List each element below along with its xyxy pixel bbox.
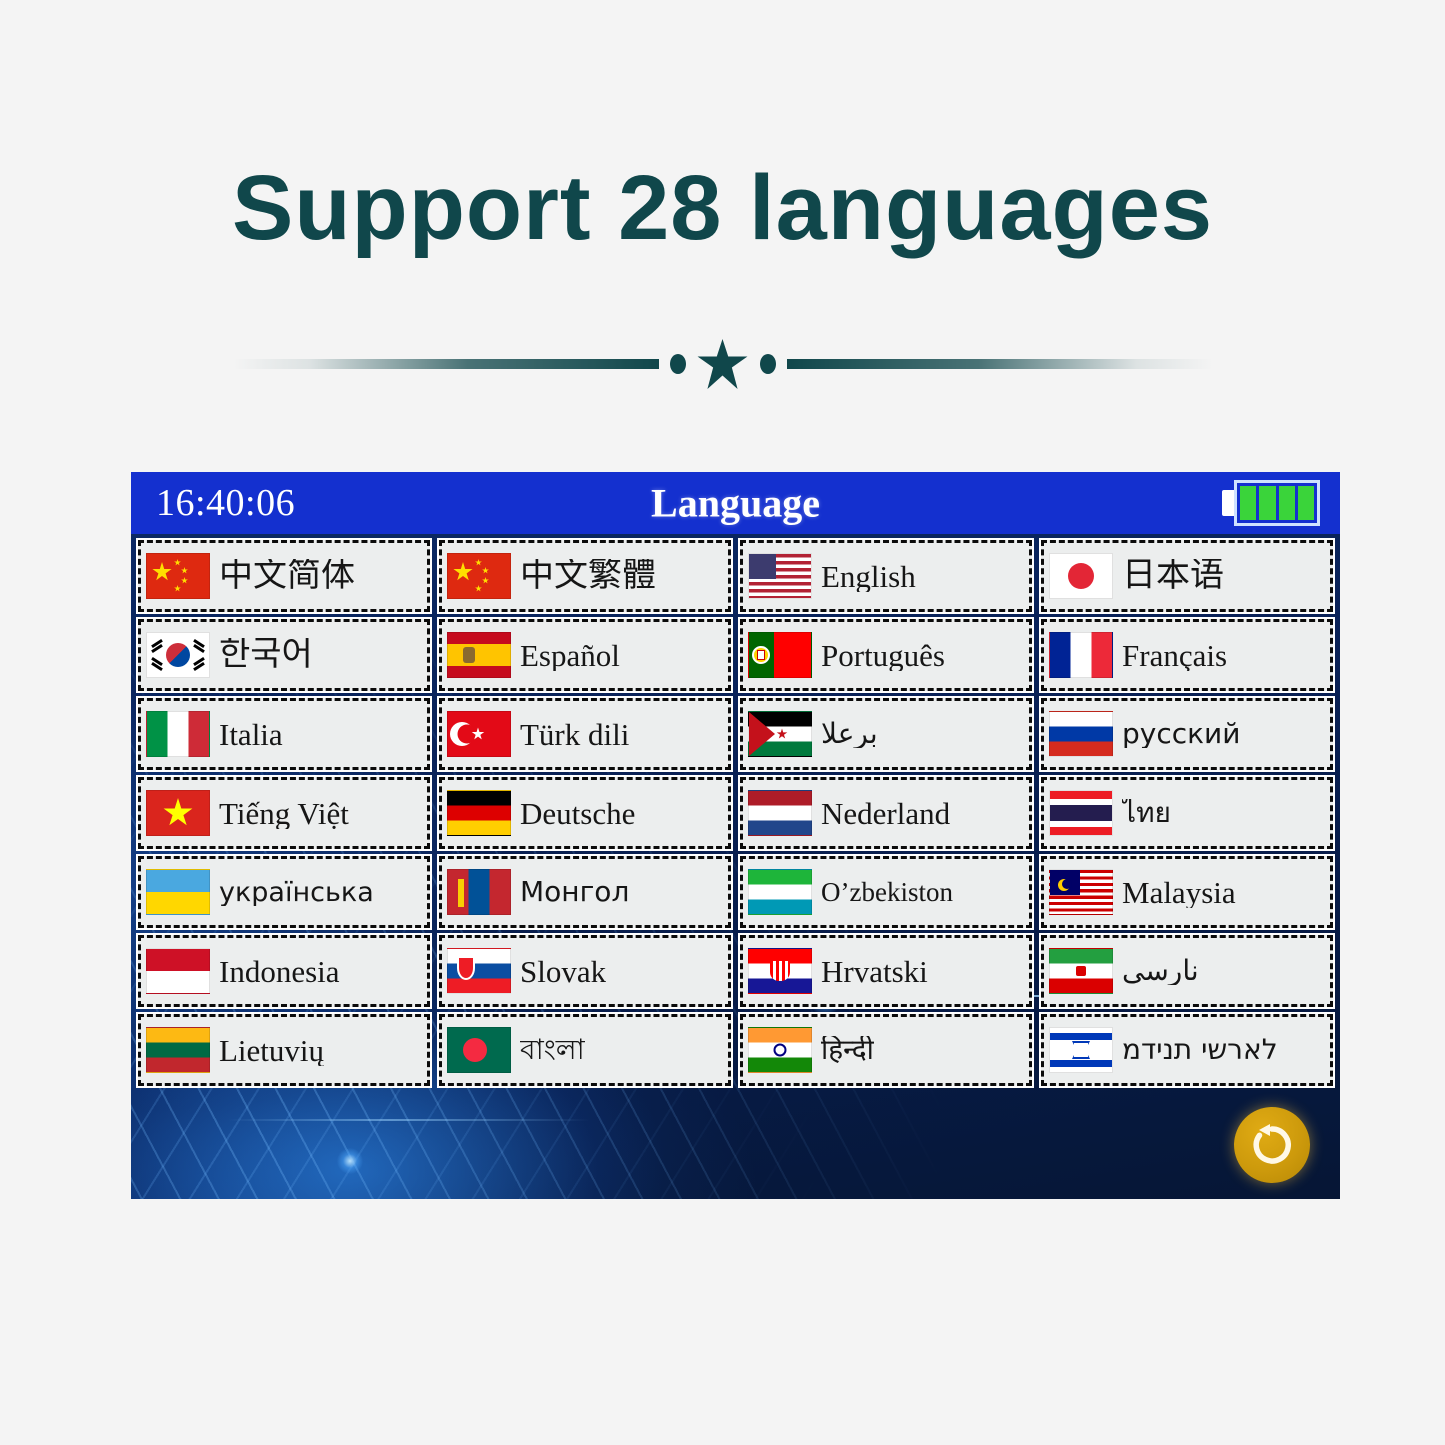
language-button[interactable]: 中文繁體 bbox=[439, 540, 731, 612]
background-glow bbox=[337, 1148, 363, 1174]
language-label: Français bbox=[1122, 640, 1227, 671]
language-button[interactable]: Hrvatski bbox=[740, 935, 1032, 1007]
language-label: 中文繁體 bbox=[520, 559, 656, 593]
language-button[interactable]: Malaysia bbox=[1041, 856, 1333, 928]
language-button[interactable]: O’zbekiston bbox=[740, 856, 1032, 928]
star-icon bbox=[697, 339, 749, 389]
language-label: 한국어 bbox=[219, 638, 313, 672]
turkey-flag-icon bbox=[447, 711, 511, 757]
status-bar: 16:40:06 Language bbox=[131, 472, 1340, 534]
language-label: نارسی bbox=[1122, 957, 1199, 985]
language-label: Hrvatski bbox=[821, 956, 928, 987]
france-flag-icon bbox=[1049, 632, 1113, 678]
battery-cell bbox=[1259, 486, 1275, 520]
usa-flag-icon bbox=[748, 553, 812, 599]
language-button[interactable]: Монгол bbox=[439, 856, 731, 928]
language-button[interactable]: 日本语 bbox=[1041, 540, 1333, 612]
language-label: Malaysia bbox=[1122, 877, 1236, 908]
portugal-flag-icon bbox=[748, 632, 812, 678]
language-button[interactable]: русский bbox=[1041, 698, 1333, 770]
uzbekistan-flag-icon bbox=[748, 869, 812, 915]
language-grid: 中文简体中文繁體English日本语한국어EspañolPortuguêsFra… bbox=[131, 534, 1340, 1086]
israel-flag-icon bbox=[1049, 1027, 1113, 1073]
language-label: برعلا bbox=[821, 720, 878, 748]
language-button[interactable]: Indonesia bbox=[138, 935, 430, 1007]
battery-cell bbox=[1279, 486, 1295, 520]
back-arrow-icon bbox=[1246, 1119, 1298, 1171]
language-button[interactable]: বাংলা bbox=[439, 1014, 731, 1086]
language-label: Nederland bbox=[821, 798, 950, 829]
language-button[interactable]: Lietuvių bbox=[138, 1014, 430, 1086]
language-label: हिन्दी bbox=[821, 1036, 874, 1064]
language-label: বাংলা bbox=[520, 1036, 585, 1064]
iran-flag-icon bbox=[1049, 948, 1113, 994]
language-label: Lietuvių bbox=[219, 1035, 324, 1066]
language-label: Italia bbox=[219, 719, 283, 750]
battery-icon bbox=[1222, 480, 1320, 526]
language-button[interactable]: українська bbox=[138, 856, 430, 928]
battery-shell bbox=[1234, 480, 1320, 526]
language-button[interactable]: ไทย bbox=[1041, 777, 1333, 849]
back-button[interactable] bbox=[1234, 1107, 1310, 1183]
indonesia-flag-icon bbox=[146, 948, 210, 994]
netherlands-flag-icon bbox=[748, 790, 812, 836]
malaysia-flag-icon bbox=[1049, 869, 1113, 915]
language-label: לארשי תנידמ bbox=[1122, 1036, 1278, 1064]
china-flag-icon bbox=[146, 553, 210, 599]
language-button[interactable]: Deutsche bbox=[439, 777, 731, 849]
croatia-flag-icon bbox=[748, 948, 812, 994]
battery-cell bbox=[1240, 486, 1256, 520]
language-label: Indonesia bbox=[219, 956, 340, 987]
battery-terminal bbox=[1222, 490, 1234, 516]
device-screen: 16:40:06 Language 中文简体中文繁體English日本语한국어E… bbox=[131, 472, 1340, 1199]
language-button[interactable]: לארשי תנידמ bbox=[1041, 1014, 1333, 1086]
language-button[interactable]: Français bbox=[1041, 619, 1333, 691]
divider-line-left bbox=[233, 359, 659, 369]
china-flag-icon bbox=[447, 553, 511, 599]
screen-title: Language bbox=[131, 480, 1340, 527]
india-flag-icon bbox=[748, 1027, 812, 1073]
western-sahara-flag-icon bbox=[748, 711, 812, 757]
language-button[interactable]: Nederland bbox=[740, 777, 1032, 849]
language-label: Монгол bbox=[520, 878, 629, 906]
language-button[interactable]: Slovak bbox=[439, 935, 731, 1007]
italy-flag-icon bbox=[146, 711, 210, 757]
bangladesh-flag-icon bbox=[447, 1027, 511, 1073]
language-label: ไทย bbox=[1122, 799, 1171, 827]
language-label: Deutsche bbox=[520, 798, 635, 829]
language-button[interactable]: Italia bbox=[138, 698, 430, 770]
language-label: українська bbox=[219, 879, 374, 906]
divider-dot-left bbox=[670, 354, 686, 374]
background-streak bbox=[228, 1119, 591, 1121]
mongolia-flag-icon bbox=[447, 869, 511, 915]
language-button[interactable]: Tiếng Việt bbox=[138, 777, 430, 849]
star-divider bbox=[233, 335, 1213, 393]
language-label: 中文简体 bbox=[219, 559, 355, 593]
thailand-flag-icon bbox=[1049, 790, 1113, 836]
ukraine-flag-icon bbox=[146, 869, 210, 915]
language-button[interactable]: برعلا bbox=[740, 698, 1032, 770]
language-button[interactable]: Português bbox=[740, 619, 1032, 691]
lithuania-flag-icon bbox=[146, 1027, 210, 1073]
language-button[interactable]: نارسی bbox=[1041, 935, 1333, 1007]
language-label: 日本语 bbox=[1122, 559, 1224, 593]
battery-cell bbox=[1298, 486, 1314, 520]
language-button[interactable]: हिन्दी bbox=[740, 1014, 1032, 1086]
south-korea-flag-icon bbox=[146, 632, 210, 678]
language-label: O’zbekiston bbox=[821, 879, 953, 906]
language-button[interactable]: 한국어 bbox=[138, 619, 430, 691]
language-label: Tiếng Việt bbox=[219, 798, 349, 829]
language-button[interactable]: 中文简体 bbox=[138, 540, 430, 612]
slovakia-flag-icon bbox=[447, 948, 511, 994]
page-title: Support 28 languages bbox=[0, 160, 1445, 257]
language-label: Türk dili bbox=[520, 719, 629, 750]
language-button[interactable]: Español bbox=[439, 619, 731, 691]
russia-flag-icon bbox=[1049, 711, 1113, 757]
language-label: Español bbox=[520, 640, 620, 671]
japan-flag-icon bbox=[1049, 553, 1113, 599]
language-label: Slovak bbox=[520, 956, 606, 987]
language-label: English bbox=[821, 561, 916, 592]
language-label: русский bbox=[1122, 720, 1240, 748]
language-button[interactable]: English bbox=[740, 540, 1032, 612]
vietnam-flag-icon bbox=[146, 790, 210, 836]
language-button[interactable]: Türk dili bbox=[439, 698, 731, 770]
spain-flag-icon bbox=[447, 632, 511, 678]
divider-dot-right bbox=[760, 354, 776, 374]
germany-flag-icon bbox=[447, 790, 511, 836]
divider-line-right bbox=[787, 359, 1213, 369]
language-label: Português bbox=[821, 640, 945, 671]
